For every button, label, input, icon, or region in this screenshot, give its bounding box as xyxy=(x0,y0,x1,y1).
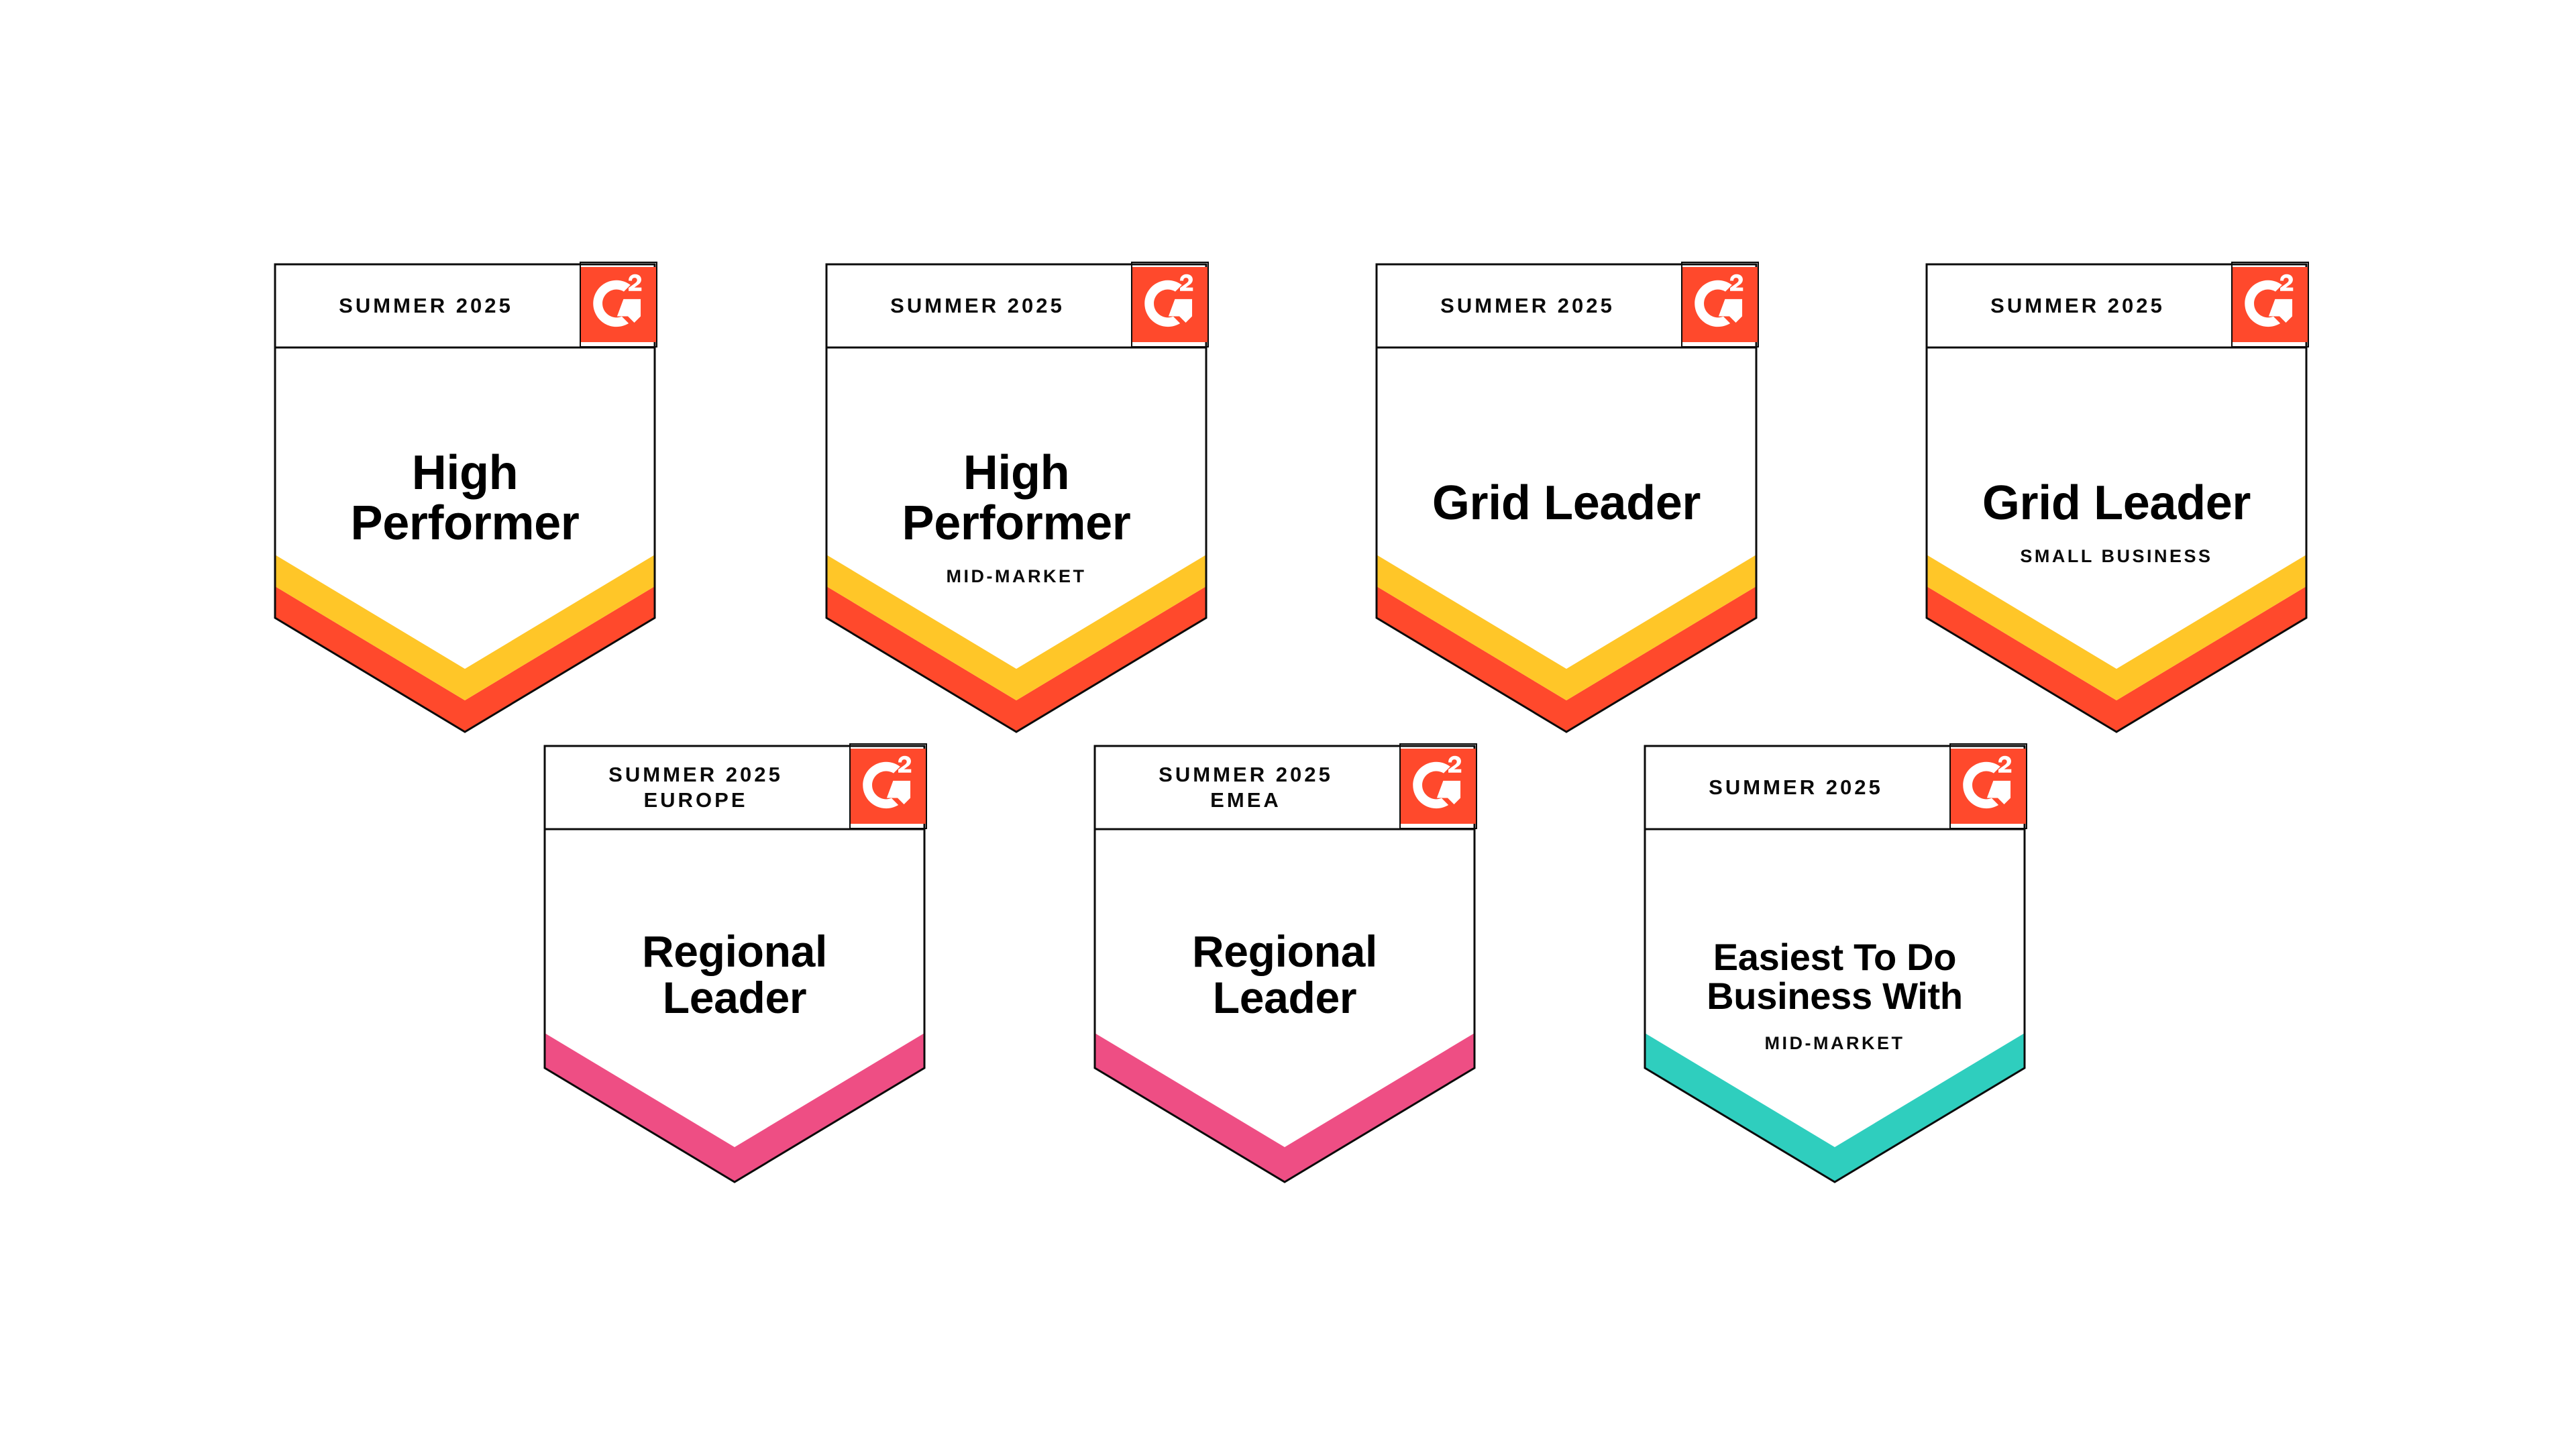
award-badge-regional-leader-europe[interactable]: SUMMER 2025EUROPERegional Leader xyxy=(545,746,924,1182)
g2-logo-tile[interactable] xyxy=(849,743,927,829)
g2-logo-mark xyxy=(851,745,926,828)
g2-logo-tile[interactable] xyxy=(1681,262,1759,347)
award-badge-grid-leader[interactable]: SUMMER 2025Grid Leader xyxy=(1377,264,1756,700)
g2-logo-mark xyxy=(2233,263,2308,346)
award-badge-high-performer-mid-market[interactable]: SUMMER 2025High PerformerMID-MARKET xyxy=(826,264,1206,700)
award-badge-regional-leader-emea[interactable]: SUMMER 2025EMEARegional Leader xyxy=(1095,746,1474,1182)
g2-logo-mark xyxy=(1132,263,1207,346)
g2-logo-tile[interactable] xyxy=(580,262,657,347)
g2-logo-mark xyxy=(1682,263,1758,346)
g2-logo-tile[interactable] xyxy=(2231,262,2309,347)
g2-award-badge-board: SUMMER 2025High Performer SUMMER 2025Hig… xyxy=(0,0,2576,1449)
award-badge-easiest-to-do-business-with-mid-market[interactable]: SUMMER 2025Easiest To Do Business WithMI… xyxy=(1645,746,2025,1182)
g2-logo-tile[interactable] xyxy=(1399,743,1477,829)
award-badge-high-performer[interactable]: SUMMER 2025High Performer xyxy=(275,264,655,700)
g2-logo-tile[interactable] xyxy=(1949,743,2027,829)
g2-logo-mark xyxy=(1401,745,1476,828)
award-badge-grid-leader-small-business[interactable]: SUMMER 2025Grid LeaderSMALL BUSINESS xyxy=(1927,264,2306,700)
g2-logo-mark xyxy=(1951,745,2026,828)
g2-logo-tile[interactable] xyxy=(1131,262,1209,347)
g2-logo-mark xyxy=(581,263,656,346)
